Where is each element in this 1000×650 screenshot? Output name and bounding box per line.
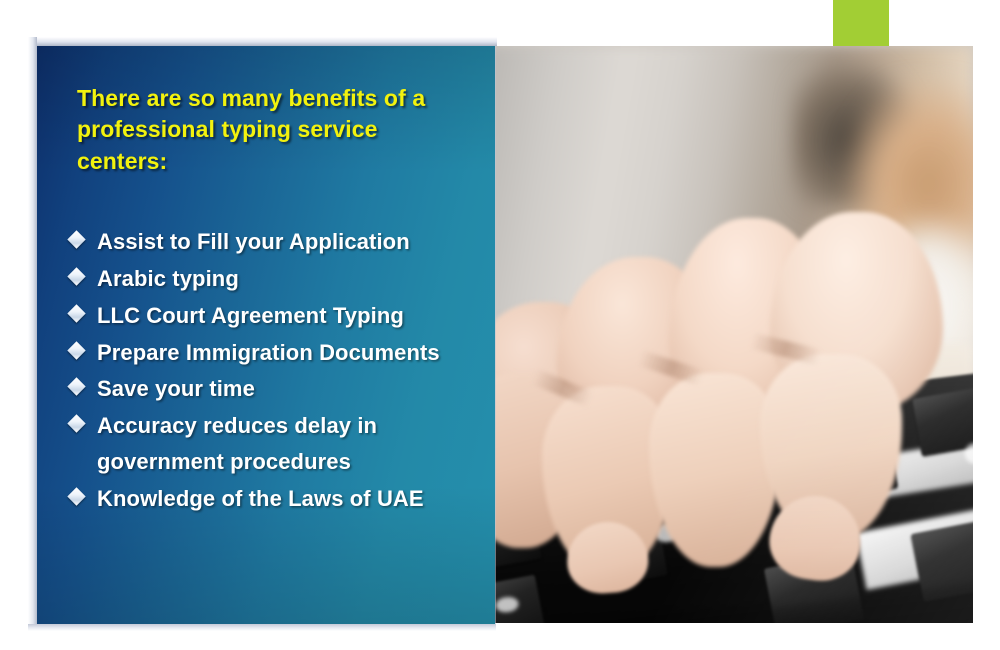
list-item: Knowledge of the Laws of UAE <box>62 481 482 517</box>
panel-edge-left <box>28 37 37 625</box>
list-item: Arabic typing <box>62 261 482 297</box>
diamond-bullet-icon <box>67 230 85 248</box>
diamond-bullet-icon <box>67 487 85 505</box>
panel-edge-bottom <box>28 624 496 631</box>
hand <box>485 173 963 496</box>
list-item: Save your time <box>62 371 482 407</box>
list-item: LLC Court Agreement Typing <box>62 298 482 334</box>
list-item: Accuracy reduces delay in government pro… <box>62 408 482 480</box>
list-item-label: Accuracy reduces delay in government pro… <box>97 408 482 480</box>
list-item-label: Assist to Fill your Application <box>97 224 410 260</box>
list-item: Prepare Immigration Documents <box>62 335 482 371</box>
diamond-bullet-icon <box>67 304 85 322</box>
photo-composition <box>485 46 973 623</box>
diamond-bullet-icon <box>67 267 85 285</box>
panel-headline: There are so many benefits of a professi… <box>77 83 472 177</box>
list-item-label: Prepare Immigration Documents <box>97 335 440 371</box>
keyboard-typing-photo <box>485 46 973 623</box>
diamond-bullet-icon <box>67 415 85 433</box>
list-item-label: Knowledge of the Laws of UAE <box>97 481 424 517</box>
content-panel: There are so many benefits of a professi… <box>37 46 495 624</box>
benefits-list: Assist to Fill your Application Arabic t… <box>62 224 482 518</box>
list-item: Assist to Fill your Application <box>62 224 482 260</box>
diamond-bullet-icon <box>67 378 85 396</box>
slide-canvas: There are so many benefits of a professi… <box>0 0 1000 650</box>
panel-edge-top <box>35 37 497 46</box>
list-item-label: Save your time <box>97 371 255 407</box>
green-accent-bar <box>833 0 889 46</box>
list-item-label: Arabic typing <box>97 261 239 297</box>
diamond-bullet-icon <box>67 341 85 359</box>
list-item-label: LLC Court Agreement Typing <box>97 298 404 334</box>
